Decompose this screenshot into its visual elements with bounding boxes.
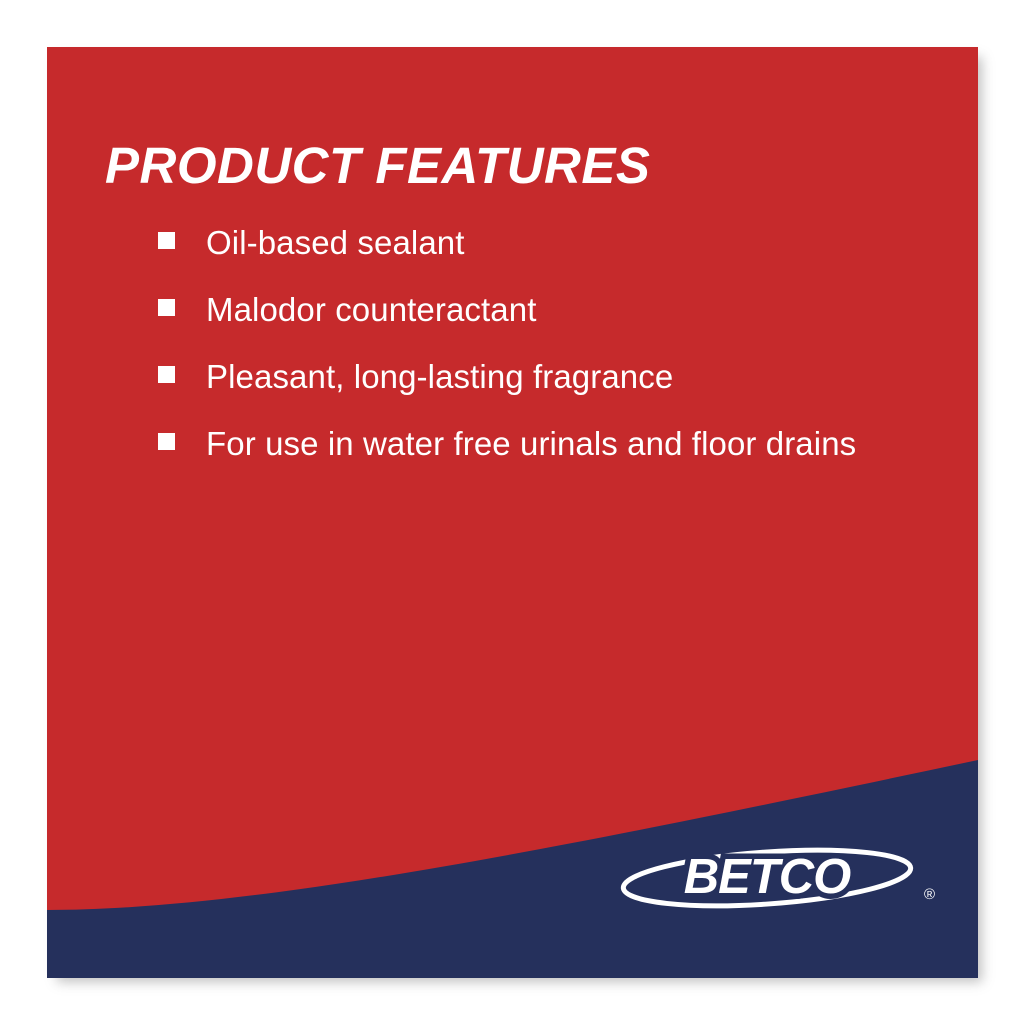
registered-trademark-icon: ®: [924, 887, 935, 902]
list-item-label: Pleasant, long-lasting fragrance: [206, 358, 673, 395]
list-item-label: Oil-based sealant: [206, 224, 465, 261]
list-item: Pleasant, long-lasting fragrance: [158, 357, 878, 396]
betco-logo: BETCO BETCO ®: [617, 842, 917, 914]
list-item-label: For use in water free urinals and floor …: [206, 425, 856, 462]
page-canvas: PRODUCT FEATURES Oil-based sealant Malod…: [0, 0, 1024, 1024]
list-item: For use in water free urinals and floor …: [158, 424, 878, 463]
square-bullet-icon: [158, 433, 175, 450]
page-title: PRODUCT FEATURES: [105, 140, 650, 191]
square-bullet-icon: [158, 299, 175, 316]
betco-wordmark: BETCO: [684, 850, 851, 904]
betco-logo-mark: BETCO BETCO: [617, 842, 917, 914]
square-bullet-icon: [158, 366, 175, 383]
product-features-list: Oil-based sealant Malodor counteractant …: [158, 223, 878, 463]
list-item-label: Malodor counteractant: [206, 291, 536, 328]
product-features-card: PRODUCT FEATURES Oil-based sealant Malod…: [47, 47, 978, 978]
square-bullet-icon: [158, 232, 175, 249]
list-item: Oil-based sealant: [158, 223, 878, 262]
list-item: Malodor counteractant: [158, 290, 878, 329]
